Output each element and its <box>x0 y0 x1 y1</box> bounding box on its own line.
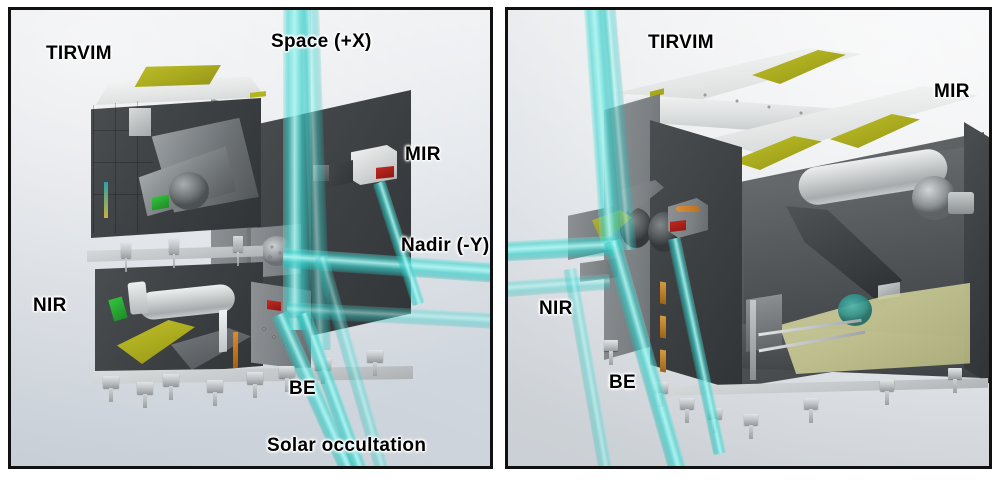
mounting-foot <box>315 358 331 370</box>
mounting-foot <box>680 398 694 409</box>
label-be-right: BE <box>609 373 636 392</box>
mir-periscope-aperture <box>376 166 394 179</box>
label-mir-left: MIR <box>405 145 441 164</box>
mounting-foot <box>948 368 962 379</box>
be-connector-strip-2 <box>660 315 666 338</box>
nir-tube-end-cap <box>127 281 148 315</box>
mounting-foot <box>279 366 295 378</box>
label-solar-occultation-left: Solar occultation <box>267 436 426 455</box>
mir-periscope-head <box>351 145 397 185</box>
mounting-foot <box>247 372 263 384</box>
scanner-bolt-1 <box>271 246 273 248</box>
mounting-foot <box>880 380 894 391</box>
be-bolt-1 <box>263 328 265 330</box>
tirvim-rib-2 <box>115 103 116 233</box>
label-nadir-left: Nadir (-Y) <box>401 236 490 255</box>
figure-container: TIRVIM Space (+X) MIR Nadir (-Y) NIR BE … <box>0 0 1000 485</box>
be-electronics-box <box>251 278 311 370</box>
label-nir-left: NIR <box>33 296 67 315</box>
mir-telescope-baffle <box>948 192 974 214</box>
scanner-rotary-disc <box>261 236 293 266</box>
label-space-left: Space (+X) <box>271 32 372 51</box>
tirvim-bolt-1 <box>704 94 706 96</box>
label-tirvim-right: TIRVIM <box>648 33 714 52</box>
label-mir-right: MIR <box>934 82 970 101</box>
label-nir-right: NIR <box>539 299 573 318</box>
tirvim-rib-h2 <box>93 162 153 163</box>
be-connector-red <box>267 300 281 311</box>
nir-periscope-aperture <box>670 220 686 232</box>
tirvim-cable-strip <box>104 182 108 218</box>
mounting-foot <box>804 398 818 409</box>
detector-box <box>129 108 151 136</box>
nir-white-mirror <box>219 309 227 352</box>
mounting-foot <box>207 380 223 392</box>
tirvim-bolt-3 <box>768 106 770 108</box>
be-connector-strip-1 <box>660 281 666 304</box>
mir-internal-window <box>313 165 329 181</box>
right-view-panel: TIRVIM MIR NIR BE <box>505 7 992 469</box>
be-connector-strip-3 <box>660 349 666 372</box>
mounting-foot <box>103 376 119 388</box>
mounting-foot <box>604 340 618 351</box>
mounting-foot <box>367 350 383 362</box>
mounting-foot <box>163 374 179 386</box>
mounting-foot <box>121 242 131 258</box>
be-bolt-4 <box>295 352 297 354</box>
interferometer-mirror-disc <box>169 172 209 210</box>
label-tirvim-left: TIRVIM <box>46 44 112 63</box>
tirvim-rib-h3 <box>93 194 151 195</box>
be-bolt-2 <box>273 336 275 338</box>
tirvim-rib-1 <box>93 105 94 233</box>
scanner-bolt-3 <box>269 256 271 258</box>
label-be-left: BE <box>289 379 316 398</box>
mounting-foot <box>744 414 758 425</box>
tirvim-bolt-2 <box>736 100 738 102</box>
mir-support-post <box>750 300 756 380</box>
mounting-foot <box>654 382 668 393</box>
tirvim-bolt-4 <box>800 112 802 114</box>
scanner-bolt-2 <box>279 252 281 254</box>
be-bolt-3 <box>285 344 287 346</box>
mounting-foot <box>169 238 179 254</box>
nir-orange-connector <box>233 332 238 369</box>
nir-periscope-connectors <box>676 206 700 212</box>
mounting-foot <box>137 382 153 394</box>
left-view-panel: TIRVIM Space (+X) MIR Nadir (-Y) NIR BE … <box>8 7 493 469</box>
mounting-foot <box>233 236 243 252</box>
mounting-foot <box>708 408 722 419</box>
